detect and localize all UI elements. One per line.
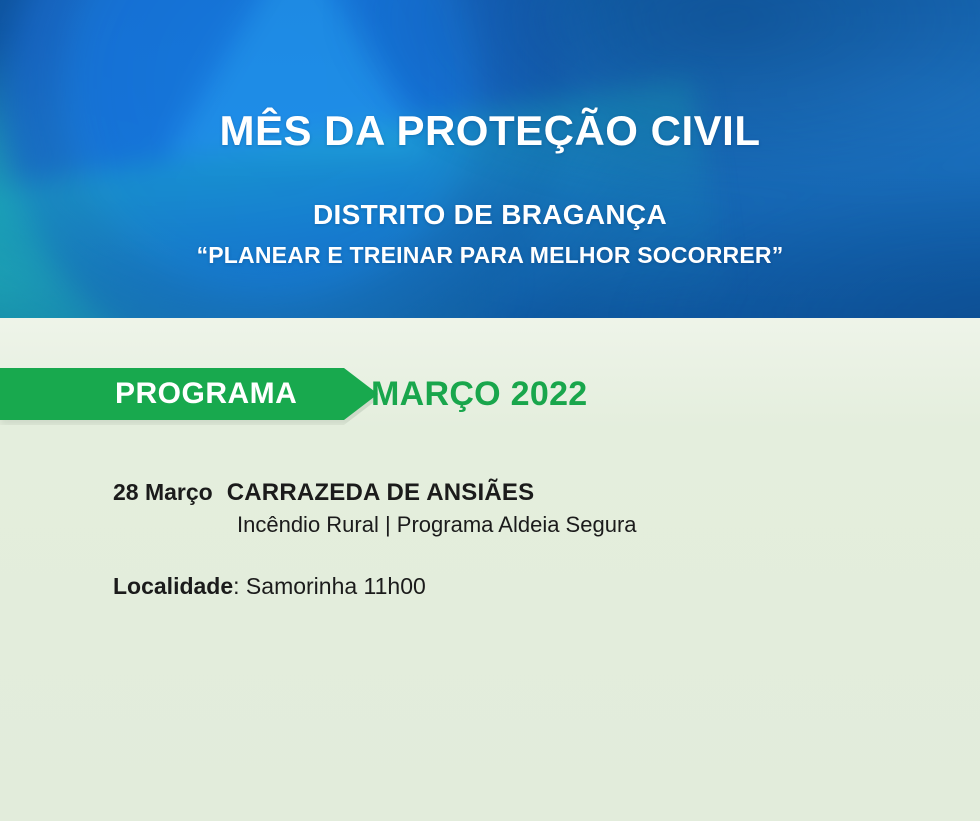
- page-title: MÊS DA PROTEÇÃO CIVIL: [0, 0, 980, 154]
- banner-programa-label: PROGRAMA: [115, 368, 297, 420]
- event-date: 28 Março: [113, 479, 213, 505]
- district-subtitle: DISTRITO DE BRAGANÇA: [0, 154, 980, 231]
- header-text-block: MÊS DA PROTEÇÃO CIVIL DISTRITO DE BRAGAN…: [0, 0, 980, 269]
- locality-label: Localidade: [113, 573, 233, 599]
- content-area: PROGRAMA MARÇO 2022 28 MarçoCARRAZEDA DE…: [0, 318, 980, 821]
- program-banner: PROGRAMA MARÇO 2022: [0, 368, 980, 420]
- header-banner: MÊS DA PROTEÇÃO CIVIL DISTRITO DE BRAGAN…: [0, 0, 980, 318]
- poster-root: MÊS DA PROTEÇÃO CIVIL DISTRITO DE BRAGAN…: [0, 0, 980, 821]
- slogan-text: “PLANEAR E TREINAR PARA MELHOR SOCORRER”: [0, 231, 980, 269]
- locality-value: : Samorinha 11h00: [233, 573, 426, 599]
- event-description: Incêndio Rural | Programa Aldeia Segura: [237, 512, 913, 538]
- event-headline: 28 MarçoCARRAZEDA DE ANSIÃES: [113, 478, 913, 508]
- event-location: CARRAZEDA DE ANSIÃES: [227, 479, 535, 506]
- event-locality: Localidade: Samorinha 11h00: [113, 573, 913, 600]
- event-entry: 28 MarçoCARRAZEDA DE ANSIÃES Incêndio Ru…: [113, 478, 913, 600]
- banner-month-label: MARÇO 2022: [371, 368, 588, 420]
